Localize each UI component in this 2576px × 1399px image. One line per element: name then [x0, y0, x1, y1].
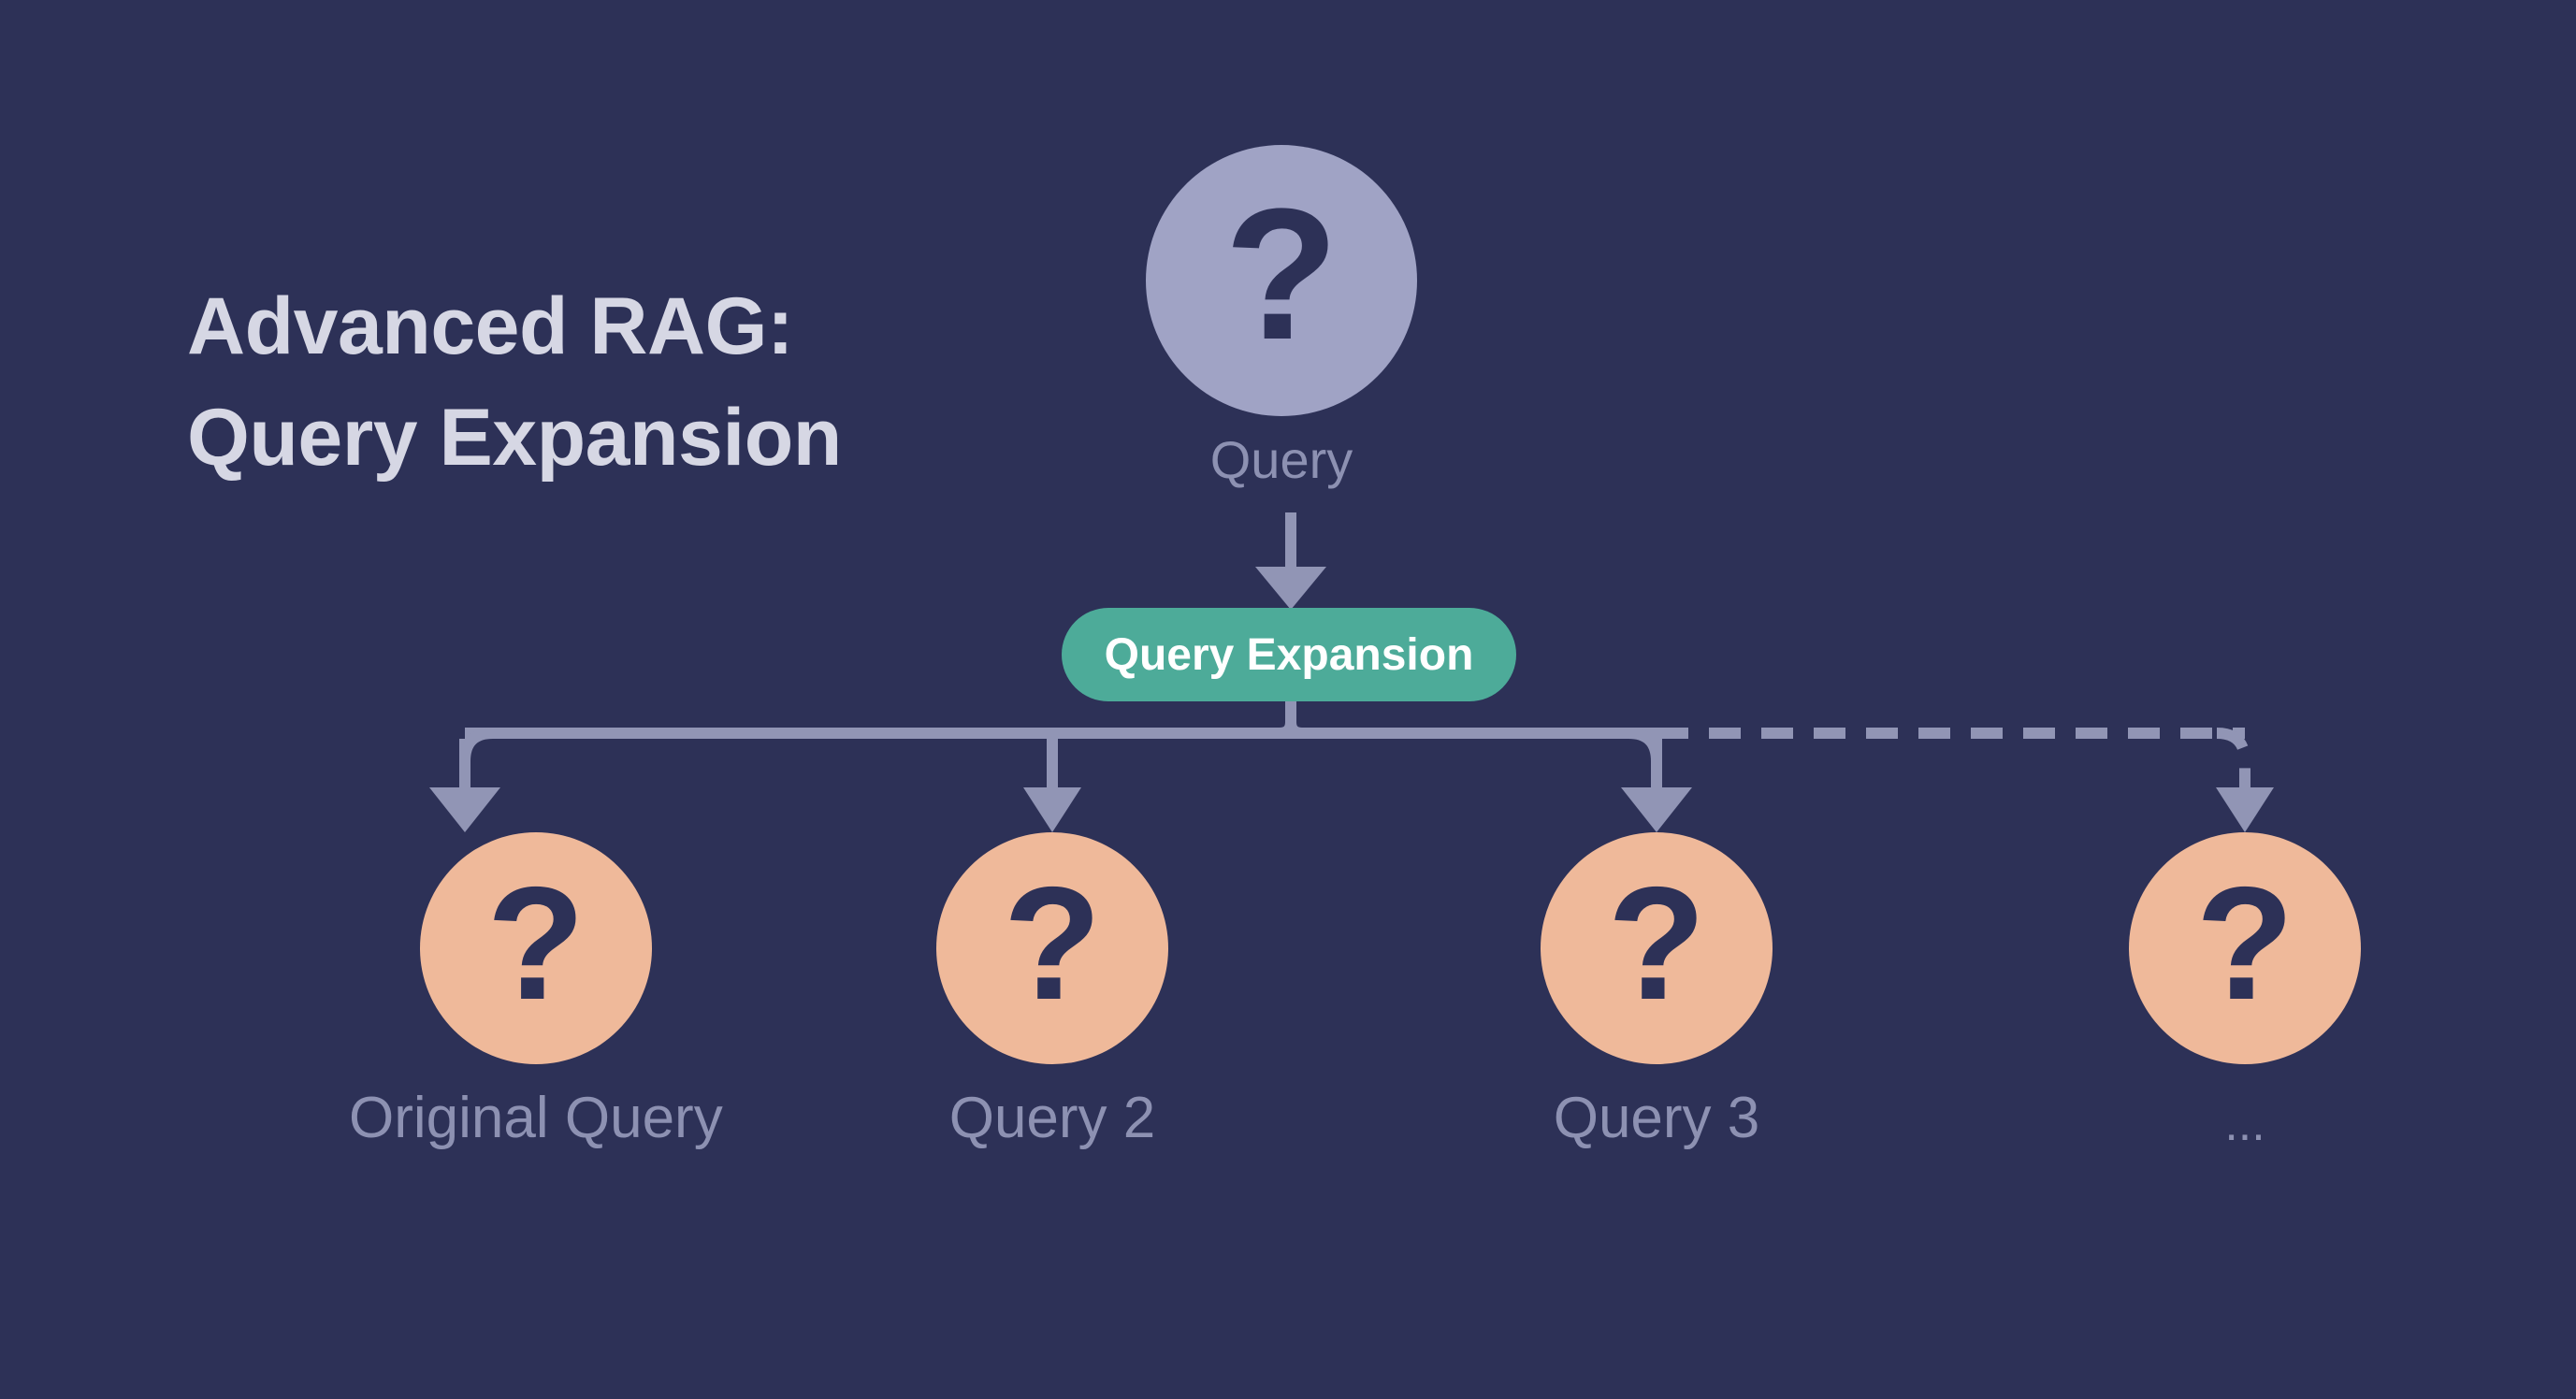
query-expansion-label: Query Expansion	[1105, 629, 1474, 681]
branch-ellipsis	[2216, 733, 2274, 832]
node-caption-query-source: Query	[1210, 429, 1353, 490]
node-caption-query-3: Query 3	[1554, 1085, 1760, 1151]
expansion-bus-stem	[1291, 701, 1302, 733]
question-mark-glyph: ?	[1003, 863, 1101, 1024]
question-mark-glyph: ?	[1224, 181, 1339, 368]
branch-query-3	[1621, 733, 1692, 832]
title-line-1: Advanced RAG:	[187, 271, 1122, 382]
question-mark-icon: ?	[1541, 832, 1773, 1064]
page-title: Advanced RAG: Query Expansion	[187, 271, 1122, 493]
node-output-query-3[interactable]: ? Query 3	[1541, 832, 1773, 1151]
branch-query-2	[1023, 733, 1081, 832]
node-query-source[interactable]: ? Query	[1146, 145, 1417, 490]
branch-original-query	[429, 733, 500, 832]
title-line-2: Query Expansion	[187, 382, 1122, 494]
node-caption-ellipsis: ...	[2224, 1096, 2265, 1152]
node-caption-query-2: Query 2	[949, 1085, 1156, 1151]
arrow-query-to-expansion	[1255, 512, 1326, 610]
question-mark-glyph: ?	[2195, 863, 2294, 1024]
diagram-canvas: Advanced RAG: Query Expansion	[0, 0, 2576, 1399]
question-mark-glyph: ?	[1607, 863, 1705, 1024]
node-output-original-query[interactable]: ? Original Query	[349, 832, 723, 1151]
question-mark-icon: ?	[936, 832, 1168, 1064]
expansion-bus-stem-left	[1280, 701, 1291, 733]
node-caption-original-query: Original Query	[349, 1085, 723, 1151]
question-mark-glyph: ?	[486, 863, 585, 1024]
question-mark-icon: ?	[2129, 832, 2361, 1064]
question-mark-icon: ?	[1146, 145, 1417, 416]
question-mark-icon: ?	[420, 832, 652, 1064]
node-output-query-2[interactable]: ? Query 2	[936, 832, 1168, 1151]
node-output-ellipsis[interactable]: ? ...	[2129, 832, 2361, 1152]
query-expansion-pill[interactable]: Query Expansion	[1062, 608, 1516, 701]
